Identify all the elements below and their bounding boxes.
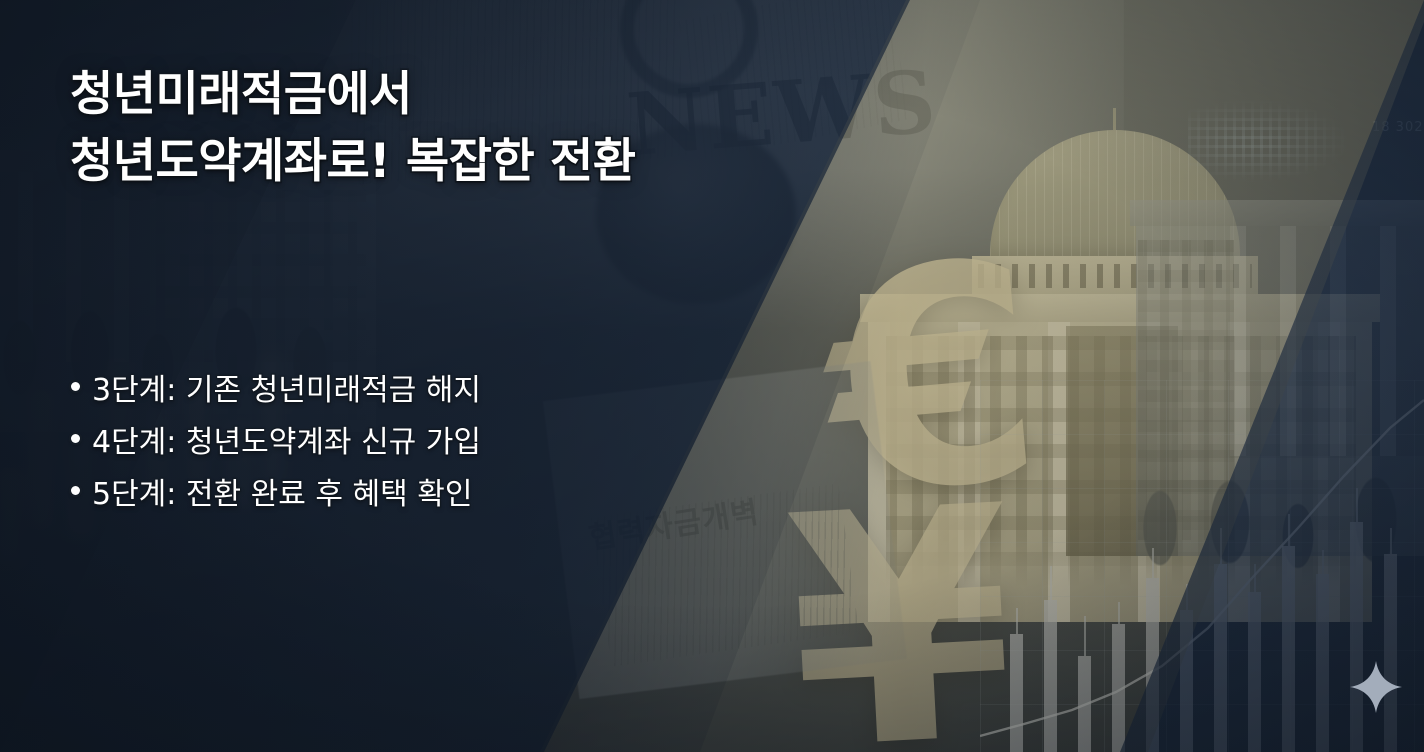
- bullet-dot-icon: [71, 434, 80, 443]
- bullet-dot-icon: [71, 486, 80, 495]
- bullet-text: 3단계: 기존 청년미래적금 해지: [92, 365, 481, 417]
- slide-content: 청년미래적금에서 청년도약계좌로! 복잡한 전환 3단계: 기존 청년미래적금 …: [0, 0, 1424, 752]
- bullet-text: 5단계: 전환 완료 후 혜택 확인: [92, 469, 472, 521]
- slide-headline: 청년미래적금에서 청년도약계좌로! 복잡한 전환: [70, 62, 970, 195]
- sparkle-icon: [1350, 661, 1402, 713]
- slide-bullet-list: 3단계: 기존 청년미래적금 해지 4단계: 청년도약계좌 신규 가입 5단계:…: [68, 365, 481, 521]
- bullet-text: 4단계: 청년도약계좌 신규 가입: [92, 417, 481, 469]
- bullet-dot-icon: [71, 382, 80, 391]
- presentation-slide: NEWS 18 302.4 € ¥ 협력자금개벽: [0, 0, 1424, 752]
- list-item: 5단계: 전환 완료 후 혜택 확인: [68, 469, 481, 521]
- list-item: 4단계: 청년도약계좌 신규 가입: [68, 417, 481, 469]
- list-item: 3단계: 기존 청년미래적금 해지: [68, 365, 481, 417]
